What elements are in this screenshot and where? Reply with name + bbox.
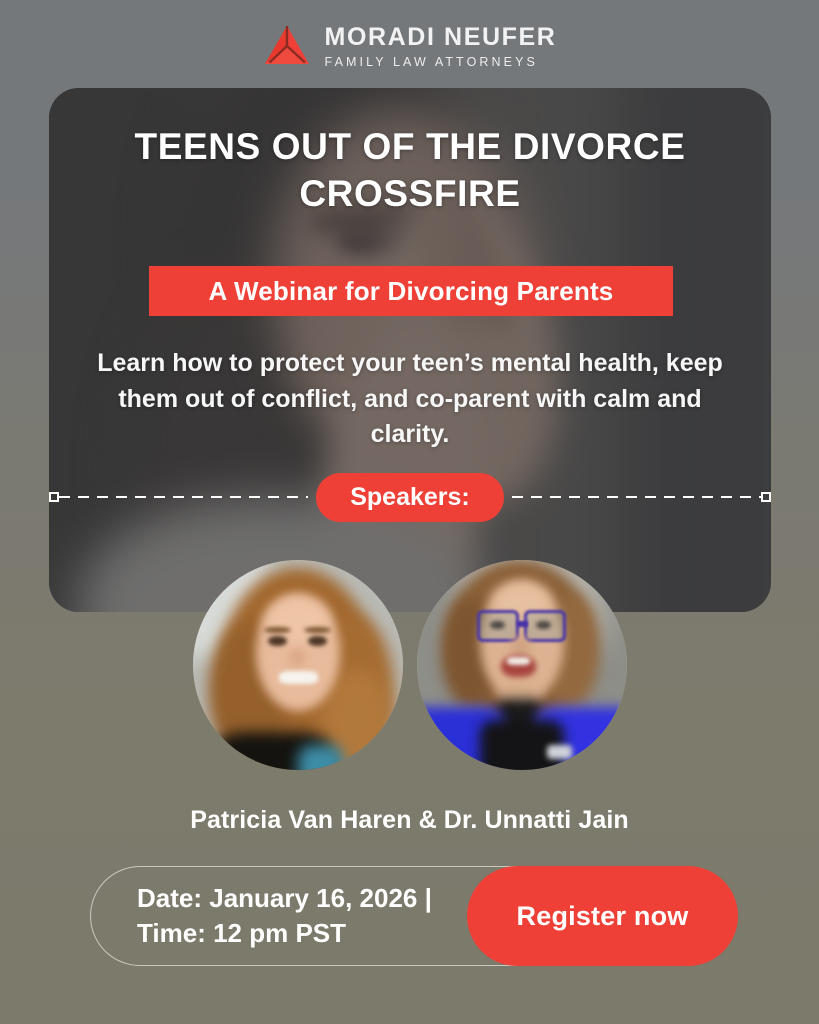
speakers-label: Speakers: bbox=[316, 473, 504, 522]
subtitle-text: A Webinar for Divorcing Parents bbox=[209, 276, 614, 307]
brand-name: MORADI NEUFER bbox=[325, 24, 557, 50]
brand-wordmark: MORADI NEUFER FAMILY LAW ATTORNEYS bbox=[325, 24, 557, 70]
pyramid-logo-icon bbox=[263, 24, 311, 70]
page-title: TEENS OUT OF THE DIVORCE CROSSFIRE bbox=[49, 124, 771, 217]
dash-endpoint-icon bbox=[761, 492, 771, 502]
date-time-text: Date: January 16, 2026 | Time: 12 pm PST bbox=[137, 881, 432, 951]
dash-endpoint-icon bbox=[49, 492, 59, 502]
avatar bbox=[417, 560, 627, 770]
avatar bbox=[193, 560, 403, 770]
dashed-rule-right bbox=[512, 490, 771, 504]
footer-cta-group: Date: January 16, 2026 | Time: 12 pm PST… bbox=[90, 866, 738, 966]
speakers-divider: Speakers: bbox=[49, 471, 771, 523]
hero-description: Learn how to protect your teen’s mental … bbox=[93, 346, 727, 453]
subtitle-banner: A Webinar for Divorcing Parents bbox=[149, 266, 673, 316]
dashed-rule-left bbox=[49, 490, 308, 504]
brand-tagline: FAMILY LAW ATTORNEYS bbox=[325, 54, 557, 70]
speaker-names: Patricia Van Haren & Dr. Unnatti Jain bbox=[0, 806, 819, 835]
brand-header: MORADI NEUFER FAMILY LAW ATTORNEYS bbox=[0, 0, 819, 72]
register-button[interactable]: Register now bbox=[467, 866, 738, 966]
hero-card: TEENS OUT OF THE DIVORCE CROSSFIRE A Web… bbox=[49, 88, 771, 612]
speaker-portraits bbox=[0, 560, 819, 770]
